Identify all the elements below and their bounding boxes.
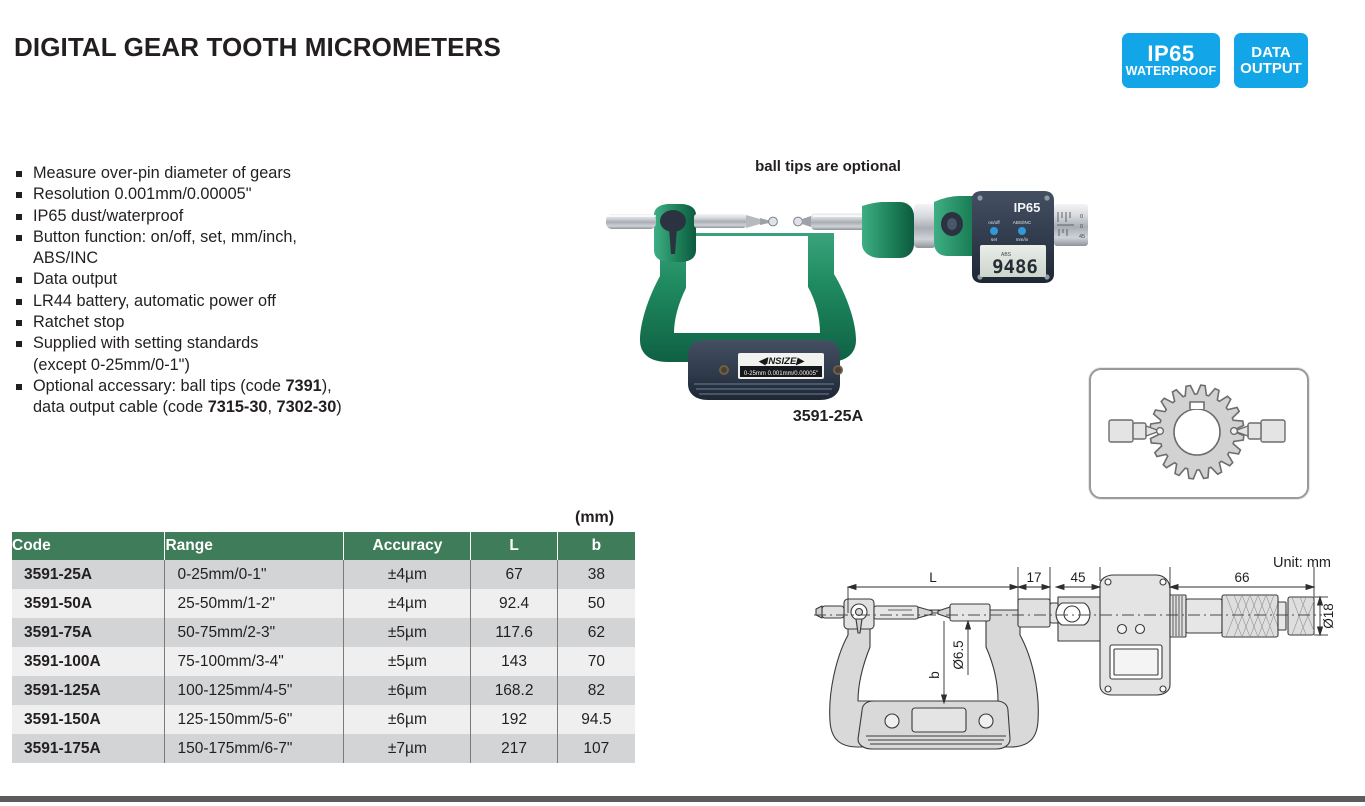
feature-text: IP65 dust/waterproof (33, 207, 183, 225)
dim-label-b: b (927, 671, 942, 679)
data-output-badge-top-label: DATA (1251, 45, 1290, 60)
cell-l: 92.4 (471, 589, 557, 618)
cell-b: 82 (557, 676, 635, 705)
cell-l: 192 (471, 705, 557, 734)
svg-text:◀INSIZE▶: ◀INSIZE▶ (758, 356, 805, 367)
list-item: Data output (13, 269, 433, 290)
page-title: DIGITAL GEAR TOOTH MICROMETERS (14, 32, 501, 63)
data-output-badge-bottom-label: OUTPUT (1240, 61, 1302, 76)
feature-text: LR44 battery, automatic power off (33, 292, 276, 310)
ip65-badge-bottom-label: WATERPROOF (1126, 65, 1217, 78)
column-header-range: Range (165, 532, 344, 560)
list-item: LR44 battery, automatic power off (13, 291, 433, 312)
svg-text:mm/in: mm/in (1016, 237, 1029, 242)
svg-text:IP65: IP65 (1014, 200, 1041, 215)
table-header-row: Code Range Accuracy L b (12, 532, 635, 560)
svg-text:0: 0 (1080, 224, 1083, 230)
data-output-badge: DATA OUTPUT (1234, 33, 1308, 88)
cell-range: 50-75mm/2-3" (165, 618, 344, 647)
ip65-waterproof-badge: IP65 WATERPROOF (1122, 33, 1220, 88)
micrometer-dimension-drawing: L 17 45 66 Ø18 Ø6.5 b (800, 525, 1345, 760)
cell-range: 0-25mm/0-1" (165, 560, 344, 589)
cell-range: 75-100mm/3-4" (165, 647, 344, 676)
list-item: IP65 dust/waterproof (13, 206, 433, 227)
table-row[interactable]: 3591-175A 150-175mm/6-7" ±7µm 217 107 (12, 734, 635, 763)
cell-code: 3591-175A (12, 734, 165, 763)
column-header-b: b (557, 532, 635, 560)
cell-b: 70 (557, 647, 635, 676)
feature-text-continued: data output cable (code 7315-30, 7302-30… (33, 397, 433, 418)
product-photo: ball tips are optional 3591-25A (528, 158, 1088, 438)
svg-text:ABS/INC: ABS/INC (1013, 220, 1032, 225)
dim-label-dia65: Ø6.5 (951, 640, 966, 669)
list-item: Measure over-pin diameter of gears (13, 163, 433, 184)
product-datasheet-page: DIGITAL GEAR TOOTH MICROMETERS IP65 WATE… (0, 0, 1365, 806)
list-item: Button function: on/off, set, mm/inch, A… (13, 227, 433, 270)
svg-text:45: 45 (1079, 234, 1085, 240)
dim-label-45: 45 (1070, 570, 1085, 585)
dim-label-dia18: Ø18 (1321, 603, 1336, 629)
feature-text: Optional accessary: ball tips (code 7391… (33, 377, 332, 395)
feature-text: Resolution 0.001mm/0.00005" (33, 185, 251, 203)
badge-group: IP65 WATERPROOF DATA OUTPUT (1122, 33, 1308, 88)
column-header-l: L (471, 532, 557, 560)
gear-measurement-diagram-box (1089, 368, 1309, 499)
table-body: 3591-25A 0-25mm/0-1" ±4µm 67 38 3591-50A… (12, 560, 635, 763)
cell-l: 67 (471, 560, 557, 589)
dim-label-17: 17 (1026, 570, 1041, 585)
table-row[interactable]: 3591-50A 25-50mm/1-2" ±4µm 92.4 50 (12, 589, 635, 618)
ball-tips-note: ball tips are optional (698, 158, 958, 175)
cell-l: 117.6 (471, 618, 557, 647)
cell-b: 107 (557, 734, 635, 763)
list-item: Optional accessary: ball tips (code 7391… (13, 376, 433, 419)
specifications-table: Code Range Accuracy L b 3591-25A 0-25mm/… (12, 532, 635, 763)
cell-code: 3591-25A (12, 560, 165, 589)
cell-l: 143 (471, 647, 557, 676)
cell-accuracy: ±5µm (344, 647, 471, 676)
feature-text: Data output (33, 270, 117, 288)
table-row[interactable]: 3591-100A 75-100mm/3-4" ±5µm 143 70 (12, 647, 635, 676)
cell-accuracy: ±5µm (344, 618, 471, 647)
cell-b: 62 (557, 618, 635, 647)
cell-accuracy: ±7µm (344, 734, 471, 763)
feature-text-continued: (except 0-25mm/0-1") (33, 355, 433, 376)
feature-text-continued: ABS/INC (33, 248, 433, 269)
cell-range: 125-150mm/5-6" (165, 705, 344, 734)
feature-text: Button function: on/off, set, mm/inch, (33, 228, 297, 246)
feature-text: Supplied with setting standards (33, 334, 258, 352)
feature-list: Measure over-pin diameter of gears Resol… (13, 163, 433, 419)
svg-text:on/off: on/off (988, 220, 1000, 225)
cell-l: 168.2 (471, 676, 557, 705)
cell-range: 25-50mm/1-2" (165, 589, 344, 618)
gear-measurement-illustration (1091, 370, 1303, 493)
ip65-badge-top-label: IP65 (1147, 43, 1194, 65)
cell-code: 3591-125A (12, 676, 165, 705)
table-unit-note: (mm) (575, 509, 614, 527)
cell-code: 3591-150A (12, 705, 165, 734)
cell-b: 94.5 (557, 705, 635, 734)
cell-code: 3591-75A (12, 618, 165, 647)
table-row[interactable]: 3591-125A 100-125mm/4-5" ±6µm 168.2 82 (12, 676, 635, 705)
table-row[interactable]: 3591-150A 125-150mm/5-6" ±6µm 192 94.5 (12, 705, 635, 734)
table-row[interactable]: 3591-25A 0-25mm/0-1" ±4µm 67 38 (12, 560, 635, 589)
svg-text:9486: 9486 (992, 256, 1038, 278)
dim-label-66: 66 (1234, 570, 1249, 585)
cell-range: 150-175mm/6-7" (165, 734, 344, 763)
svg-text:0: 0 (1080, 214, 1083, 220)
micrometer-photo-illustration: ◀INSIZE▶ 0-25mm 0.001mm/0.00005" (528, 188, 1088, 403)
footer-divider-bar (0, 796, 1365, 802)
cell-accuracy: ±4µm (344, 560, 471, 589)
column-header-accuracy: Accuracy (344, 532, 471, 560)
cell-code: 3591-50A (12, 589, 165, 618)
feature-text: Ratchet stop (33, 313, 124, 331)
technical-drawing: Unit: mm (800, 525, 1345, 760)
table-row[interactable]: 3591-75A 50-75mm/2-3" ±5µm 117.6 62 (12, 618, 635, 647)
cell-code: 3591-100A (12, 647, 165, 676)
cell-accuracy: ±6µm (344, 705, 471, 734)
list-item: Ratchet stop (13, 312, 433, 333)
list-item: Resolution 0.001mm/0.00005" (13, 184, 433, 205)
cell-accuracy: ±4µm (344, 589, 471, 618)
svg-text:set: set (991, 237, 998, 242)
column-header-code: Code (12, 532, 165, 560)
svg-text:0-25mm 0.001mm/0.00005": 0-25mm 0.001mm/0.00005" (744, 371, 818, 377)
cell-l: 217 (471, 734, 557, 763)
cell-b: 38 (557, 560, 635, 589)
dim-label-L: L (929, 570, 937, 585)
drawing-unit-label: Unit: mm (1273, 555, 1331, 571)
list-item: Supplied with setting standards (except … (13, 333, 433, 376)
feature-text: Measure over-pin diameter of gears (33, 164, 291, 182)
cell-accuracy: ±6µm (344, 676, 471, 705)
cell-b: 50 (557, 589, 635, 618)
product-photo-caption: 3591-25A (698, 408, 958, 426)
cell-range: 100-125mm/4-5" (165, 676, 344, 705)
